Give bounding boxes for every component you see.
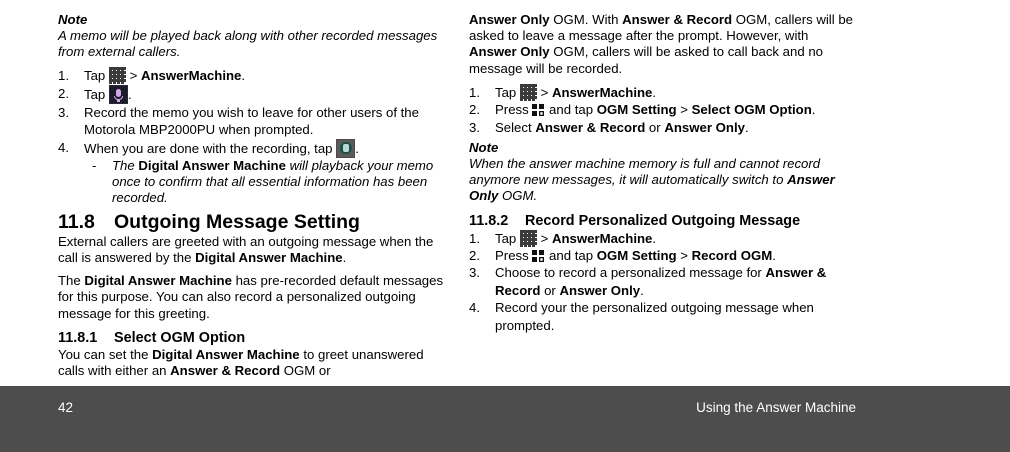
para-text-a: You can set the [58,347,152,362]
spacer [469,205,859,212]
step-text-pre: Tap [84,68,109,83]
step-marker: 2. [469,101,489,118]
step-text-pre: Press [495,248,532,263]
note-heading: Note [58,12,448,28]
list-item: 4. Record your the personalized outgoing… [469,299,859,334]
note-text-a: When the answer machine memory is full a… [469,156,820,187]
list-item: 1. Tap > AnswerMachine. [469,84,859,101]
list-item: 4. When you are done with the recording,… [58,139,448,207]
step-text-post: > [537,85,552,100]
step-tail: . [652,85,656,100]
para-bold-1: Digital Answer Machine [152,347,300,362]
section-title: Outgoing Message Setting [114,211,360,233]
step-text-post: > [537,231,552,246]
footer-page-number: 42 [58,400,73,415]
step-tail: . [812,102,816,117]
paragraph-11-8-2: The Digital Answer Machine has pre-recor… [58,273,448,322]
step-tail: . [745,120,749,135]
list-item: 3. Choose to record a personalized messa… [469,264,859,299]
step-marker: 4. [469,299,489,316]
step-text-pre: Tap [495,231,520,246]
step-text-pre: Tap [84,87,109,102]
step-bold-2: Answer Only [664,120,745,135]
para-text-c: OGM or [280,363,331,378]
section-number: 11.8.2 [469,212,525,230]
section-number: 11.8 [58,211,114,234]
note-block-left: Note A memo will be played back along wi… [58,12,448,60]
step-marker: 2. [58,85,78,102]
note-body: When the answer machine memory is full a… [469,156,859,205]
menu-dots-icon[interactable] [532,249,545,263]
section-heading-11-8-1: 11.8.1Select OGM Option [58,329,448,347]
paragraph-11-8-1-body: You can set the Digital Answer Machine t… [58,347,448,379]
paragraph-11-8-1: External callers are greeted with an out… [58,234,448,266]
step-marker: 1. [469,230,489,247]
para-text-b: . [343,250,347,265]
step-mid: or [645,120,664,135]
para-bold-2: Answer & Record [170,363,280,378]
step-bold-1: Answer & Record [535,120,645,135]
step-bold: AnswerMachine [552,85,652,100]
list-item: 2. Press and tap OGM Setting > Select OG… [469,101,859,118]
step-text: Record the memo you wish to leave for ot… [84,105,419,137]
step-bold: AnswerMachine [141,68,241,83]
note-text-b: OGM. [498,188,537,203]
list-item: -The Digital Answer Machine will playbac… [84,158,448,207]
note-body: A memo will be played back along with ot… [58,28,448,60]
note-block-right: Note When the answer machine memory is f… [469,140,859,205]
step-text-pre: Choose to record a personalized message … [495,265,766,280]
section-number: 11.8.1 [58,329,114,347]
step-text-pre: Press [495,102,532,117]
step-bold-1: OGM Setting [597,248,677,263]
step-tail: . [128,87,132,102]
left-column: Note A memo will be played back along wi… [58,12,448,379]
step-marker: 3. [469,119,489,136]
step-text-pre: When you are done with the recording, ta… [84,141,336,156]
list-item: 2. Press and tap OGM Setting > Record OG… [469,247,859,264]
sub-bullet-list: -The Digital Answer Machine will playbac… [84,158,448,207]
microphone-icon[interactable] [109,85,128,104]
grid-icon[interactable] [520,84,537,101]
grid-icon[interactable] [109,67,126,84]
step-mid: > [677,248,692,263]
step-text: Record your the personalized outgoing me… [495,300,814,332]
para-bold: Digital Answer Machine [195,250,343,265]
list-item: 3. Select Answer & Record or Answer Only… [469,119,859,136]
step-marker: 3. [469,264,489,281]
list-item: 1. Tap > AnswerMachine. [58,67,448,84]
footer-section-title: Using the Answer Machine [696,400,856,415]
step-bold-2: Record OGM [692,248,773,263]
list-item: 2. Tap . [58,85,448,104]
step-mid: > [677,102,692,117]
step-text-pre: Select [495,120,535,135]
cont-bold-2: Answer & Record [622,12,732,27]
step-bold-1: OGM Setting [597,102,677,117]
step-bold-2: Answer Only [560,283,641,298]
spacer [58,322,448,329]
right-column: Answer Only OGM. With Answer & Record OG… [469,12,859,334]
step-tail: . [355,141,359,156]
footer-inner: 42 Using the Answer Machine [0,386,1010,426]
sub-lead: The [112,158,138,173]
step-mid: or [540,283,559,298]
two-column-body: Note A memo will be played back along wi… [0,0,1010,386]
step-bold: AnswerMachine [552,231,652,246]
page-footer: 42 Using the Answer Machine [0,386,1010,452]
grid-icon[interactable] [520,230,537,247]
step-marker: 1. [58,67,78,84]
list-item: 1. Tap > AnswerMachine. [469,230,859,247]
spacer [58,266,448,273]
step-marker: 2. [469,247,489,264]
spacer [469,77,859,84]
dash-marker: - [92,158,96,174]
step-tail: . [772,248,776,263]
stop-record-icon[interactable] [336,139,355,158]
section-title: Record Personalized Outgoing Message [525,213,800,229]
step-marker: 1. [469,84,489,101]
step-text-post: > [126,68,141,83]
sub-bold: Digital Answer Machine [138,158,286,173]
step-bold-2: Select OGM Option [692,102,812,117]
steps-list-record-ogm: 1. Tap > AnswerMachine. 2. Press and tap… [469,230,859,334]
step-tail: . [241,68,245,83]
cont-text-1: OGM. With [550,12,623,27]
step-text-post: and tap [545,248,596,263]
para-bold: Digital Answer Machine [84,273,232,288]
steps-list-select-ogm: 1. Tap > AnswerMachine. 2. Press and tap… [469,84,859,136]
step-marker: 4. [58,139,78,156]
list-item: 3. Record the memo you wish to leave for… [58,104,448,139]
spacer [58,60,448,67]
section-heading-11-8-2: 11.8.2Record Personalized Outgoing Messa… [469,212,859,230]
section-title: Select OGM Option [114,330,245,346]
menu-dots-icon[interactable] [532,103,545,117]
steps-list-memo: 1. Tap > AnswerMachine. 2. Tap . 3. Reco… [58,67,448,206]
step-text-pre: Tap [495,85,520,100]
step-marker: 3. [58,104,78,121]
cont-bold-1: Answer Only [469,12,550,27]
note-heading: Note [469,140,859,156]
paragraph-continuation: Answer Only OGM. With Answer & Record OG… [469,12,859,77]
cont-bold-3: Answer Only [469,44,550,59]
section-heading-11-8: 11.8Outgoing Message Setting [58,211,448,234]
para-text-a: The [58,273,84,288]
document-page: Note A memo will be played back along wi… [0,0,1010,386]
step-text-post: and tap [545,102,596,117]
step-tail: . [640,283,644,298]
step-tail: . [652,231,656,246]
